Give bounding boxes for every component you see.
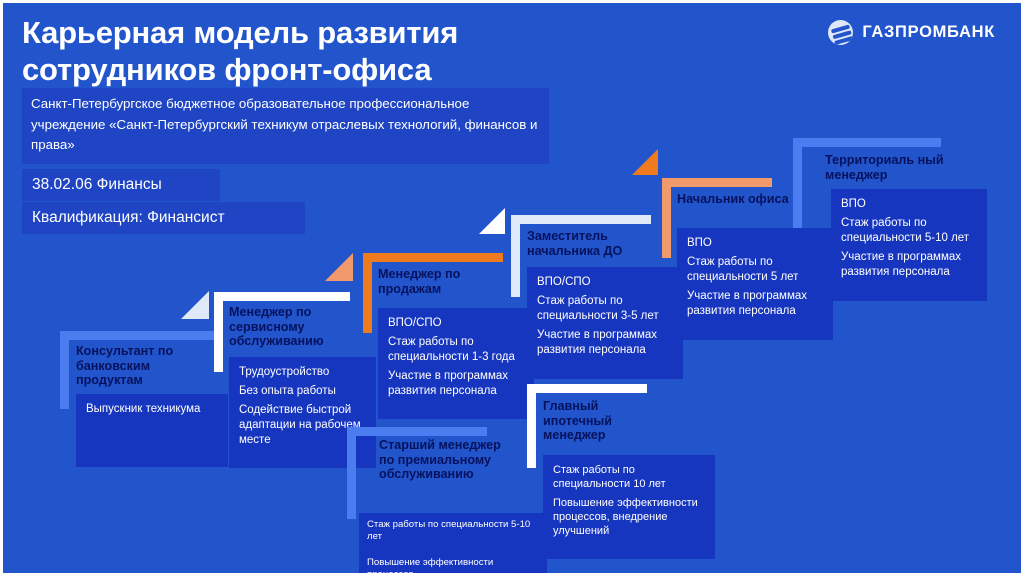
list-item: Участие в программах развития персонала — [687, 289, 823, 319]
card-body: Стаж работы по специальности 10 лет Повы… — [543, 455, 715, 559]
card-bracket-top — [793, 138, 941, 147]
card-bracket-left — [60, 331, 69, 409]
card-triangle-accent — [325, 253, 353, 281]
slide-canvas: Карьерная модель развития сотрудников фр… — [3, 3, 1021, 573]
list-item: Участие в программах развития персонала — [537, 328, 673, 358]
list-item: Стаж работы по специальности 5-10 лет — [841, 216, 977, 246]
card-title: Территориаль ный менеджер — [825, 153, 953, 182]
list-item: Стаж работы по специальности 5 лет — [687, 255, 823, 285]
card-bullet-list: Стаж работы по специальности 10 лет Повы… — [553, 463, 705, 538]
card-bracket-left — [511, 215, 520, 297]
card-body: Стаж работы по специальности 5-10 лет По… — [359, 513, 547, 573]
page-title: Карьерная модель развития сотрудников фр… — [22, 15, 642, 88]
card-bracket-left — [527, 384, 536, 468]
card-title: Менеджер по сервисному обслуживанию — [229, 305, 369, 349]
card-title: Менеджер по продажам — [378, 267, 518, 296]
list-item: Выпускник техникума — [86, 402, 218, 417]
card-bracket-left — [214, 292, 223, 372]
list-item: Стаж работы по специальности 3-5 лет — [537, 294, 673, 324]
card-body: ВПО Стаж работы по специальности 5 лет У… — [677, 228, 833, 340]
list-item: ВПО — [841, 197, 977, 212]
list-item: ВПО/СПО — [388, 316, 524, 331]
list-item: Участие в программах развития персонала — [841, 250, 977, 280]
gazprombank-logo: ГАЗПРОМБАНК — [828, 20, 995, 45]
card-triangle-accent — [181, 291, 209, 319]
card-title: Консультант по банковским продуктам — [76, 344, 216, 388]
card-bracket-top — [662, 178, 772, 187]
list-item: ВПО — [687, 236, 823, 251]
card-bracket-left — [347, 427, 356, 519]
card-bracket-left — [793, 138, 802, 228]
list-item: Повышение эффективности процессов, внедр… — [553, 496, 705, 539]
card-bracket-top — [527, 384, 647, 393]
card-title: Начальник офиса — [677, 192, 797, 207]
card-bullet-list: ВПО Стаж работы по специальности 5-10 ле… — [841, 197, 977, 280]
card-bracket-top — [511, 215, 651, 224]
card-bracket-top — [363, 253, 503, 262]
card-bullet-list: ВПО/СПО Стаж работы по специальности 3-5… — [537, 275, 673, 358]
qualification-label: Квалификация: Финансист — [22, 202, 305, 234]
list-item: Участие в программах развития персонала — [388, 369, 524, 399]
list-item: Трудоустройство — [239, 365, 366, 380]
card-bullet-list: Выпускник техникума — [86, 402, 218, 417]
card-title: Заместитель начальника ДО — [527, 229, 667, 258]
card-bullet-list: ВПО Стаж работы по специальности 5 лет У… — [687, 236, 823, 319]
list-item: Стаж работы по специальности 1-3 года — [388, 335, 524, 365]
card-title: Главный ипотечный менеджер — [543, 399, 653, 443]
card-title: Старший менеджер по премиальному обслужи… — [379, 438, 509, 482]
gazprombank-globe-icon — [828, 20, 853, 45]
card-bracket-top — [60, 331, 215, 340]
list-item: Стаж работы по специальности 10 лет — [553, 463, 705, 492]
institution-subtitle: Санкт-Петербургское бюджетное образовате… — [22, 88, 549, 164]
card-body: Выпускник техникума — [76, 394, 228, 467]
card-body: ВПО/СПО Стаж работы по специальности 3-5… — [527, 267, 683, 379]
card-bullet-list: Стаж работы по специальности 5-10 лет По… — [367, 519, 539, 573]
program-code: 38.02.06 Финансы — [22, 169, 220, 201]
card-body: ВПО Стаж работы по специальности 5-10 ле… — [831, 189, 987, 301]
list-item: ВПО/СПО — [537, 275, 673, 290]
logo-wordmark: ГАЗПРОМБАНК — [862, 23, 995, 42]
card-bullet-list: ВПО/СПО Стаж работы по специальности 1-3… — [388, 316, 524, 399]
card-bracket-top — [347, 427, 487, 436]
list-item: Стаж работы по специальности 5-10 лет — [367, 519, 539, 544]
card-triangle-accent — [632, 149, 658, 175]
card-bracket-left — [662, 178, 671, 258]
card-triangle-accent — [479, 208, 505, 234]
list-item: Без опыта работы — [239, 384, 366, 399]
list-item: Повышение эффективности процессов — [367, 557, 539, 573]
card-body: ВПО/СПО Стаж работы по специальности 1-3… — [378, 308, 534, 419]
card-bracket-left — [363, 253, 372, 333]
card-bracket-top — [214, 292, 350, 301]
